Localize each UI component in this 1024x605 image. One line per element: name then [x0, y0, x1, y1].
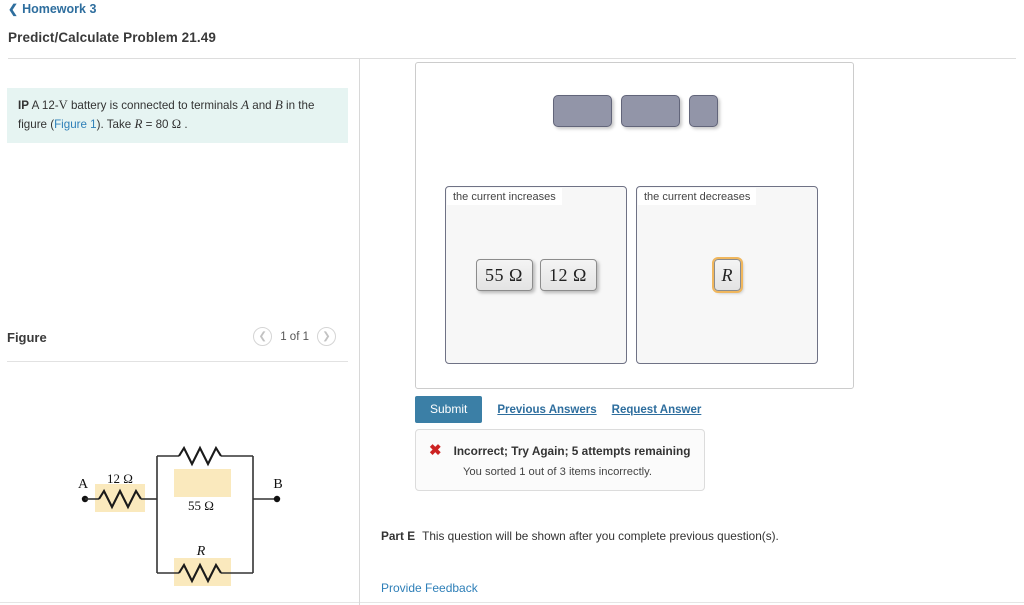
breadcrumb-back-to-homework[interactable]: ❮ Homework 3 — [8, 2, 96, 16]
item-bank — [416, 95, 855, 127]
chevron-left-icon: ❮ — [8, 3, 18, 15]
problem-text-6: = 80 — [142, 118, 171, 131]
problem-text-2: battery is connected to terminals — [68, 99, 241, 112]
label-terminal-a: A — [78, 477, 89, 492]
part-e-message: This question will be shown after you co… — [422, 529, 779, 543]
bin-items-increases: 55 Ω 12 Ω — [446, 259, 626, 291]
feedback-header: ✖ Incorrect; Try Again; 5 attempts remai… — [429, 443, 690, 458]
problem-text-5: ). Take — [97, 118, 135, 131]
bin-current-increases[interactable]: the current increases 55 Ω 12 Ω — [445, 186, 627, 364]
terminal-b-var: B — [275, 97, 283, 112]
figure-next-button[interactable]: ❯ — [317, 327, 336, 346]
label-r: R — [196, 544, 206, 559]
unit-volt: V — [59, 98, 68, 112]
figure-1-link[interactable]: Figure 1 — [54, 118, 97, 131]
homework-page: ❮ Homework 3 Predict/Calculate Problem 2… — [0, 0, 1024, 605]
right-panel: the current increases 55 Ω 12 Ω the curr… — [360, 59, 1024, 605]
answer-actions: Submit Previous Answers Request Answer — [415, 396, 701, 423]
figure-navigation: ❮ 1 of 1 ❯ — [253, 327, 336, 346]
bin-label-increases: the current increases — [447, 188, 562, 205]
problem-text-3: and — [249, 99, 275, 112]
token-12-ohm[interactable]: 12 Ω — [540, 259, 597, 291]
previous-answers-link[interactable]: Previous Answers — [497, 404, 596, 416]
feedback-message: ✖ Incorrect; Try Again; 5 attempts remai… — [415, 429, 705, 491]
left-panel: IP A 12-V battery is connected to termin… — [0, 59, 360, 605]
submit-button[interactable]: Submit — [415, 396, 482, 423]
terminal-a-var: A — [241, 97, 249, 112]
breadcrumb-label: Homework 3 — [22, 2, 96, 16]
empty-drop-slot-3[interactable] — [689, 95, 718, 127]
problem-statement: IP A 12-V battery is connected to termin… — [7, 88, 348, 143]
label-55ohm: 55 Ω — [188, 498, 214, 513]
figure-header: Figure ❮ 1 of 1 ❯ — [7, 323, 348, 359]
part-e-label: Part E — [381, 529, 415, 543]
token-r[interactable]: R — [714, 259, 741, 291]
bin-items-decreases: R — [637, 259, 817, 291]
figure-prev-button[interactable]: ❮ — [253, 327, 272, 346]
circuit-figure: A B 12 Ω 55 Ω R — [7, 369, 348, 605]
sorting-answer-panel: the current increases 55 Ω 12 Ω the curr… — [415, 62, 854, 389]
part-e-row: Part EThis question will be shown after … — [381, 529, 779, 543]
provide-feedback-link[interactable]: Provide Feedback — [381, 581, 478, 595]
figure-divider — [7, 361, 348, 362]
bin-current-decreases[interactable]: the current decreases R — [636, 186, 818, 364]
chevron-right-icon: ❯ — [322, 332, 330, 342]
sorting-bins: the current increases 55 Ω 12 Ω the curr… — [445, 186, 818, 364]
token-55-ohm[interactable]: 55 Ω — [476, 259, 533, 291]
terminal-b-node — [274, 496, 280, 502]
chevron-left-icon: ❮ — [259, 332, 267, 342]
feedback-title: Incorrect; Try Again; 5 attempts remaini… — [454, 444, 691, 458]
request-answer-link[interactable]: Request Answer — [612, 404, 702, 416]
unit-ohm: Ω — [172, 117, 181, 131]
resistor-55ohm-symbol — [179, 448, 221, 464]
label-12ohm: 12 Ω — [107, 471, 133, 486]
x-mark-icon: ✖ — [429, 443, 442, 458]
empty-drop-slot-2[interactable] — [621, 95, 680, 127]
right-bottom-divider — [360, 602, 1024, 603]
figure-counter: 1 of 1 — [280, 331, 309, 343]
label-terminal-b: B — [273, 477, 282, 492]
page-title: Predict/Calculate Problem 21.49 — [8, 30, 216, 45]
problem-prefix: IP — [18, 99, 29, 112]
left-bottom-divider — [0, 602, 360, 603]
bin-label-decreases: the current decreases — [638, 188, 756, 205]
figure-title: Figure — [7, 330, 47, 345]
highlight-55ohm — [174, 469, 231, 497]
highlight-12ohm — [95, 484, 145, 512]
empty-drop-slot-1[interactable] — [553, 95, 612, 127]
feedback-detail: You sorted 1 out of 3 items incorrectly. — [463, 466, 652, 478]
problem-text-1: A 12- — [32, 99, 59, 112]
circuit-diagram-svg: A B 12 Ω 55 Ω R — [7, 369, 348, 605]
problem-text-7: . — [181, 118, 187, 131]
